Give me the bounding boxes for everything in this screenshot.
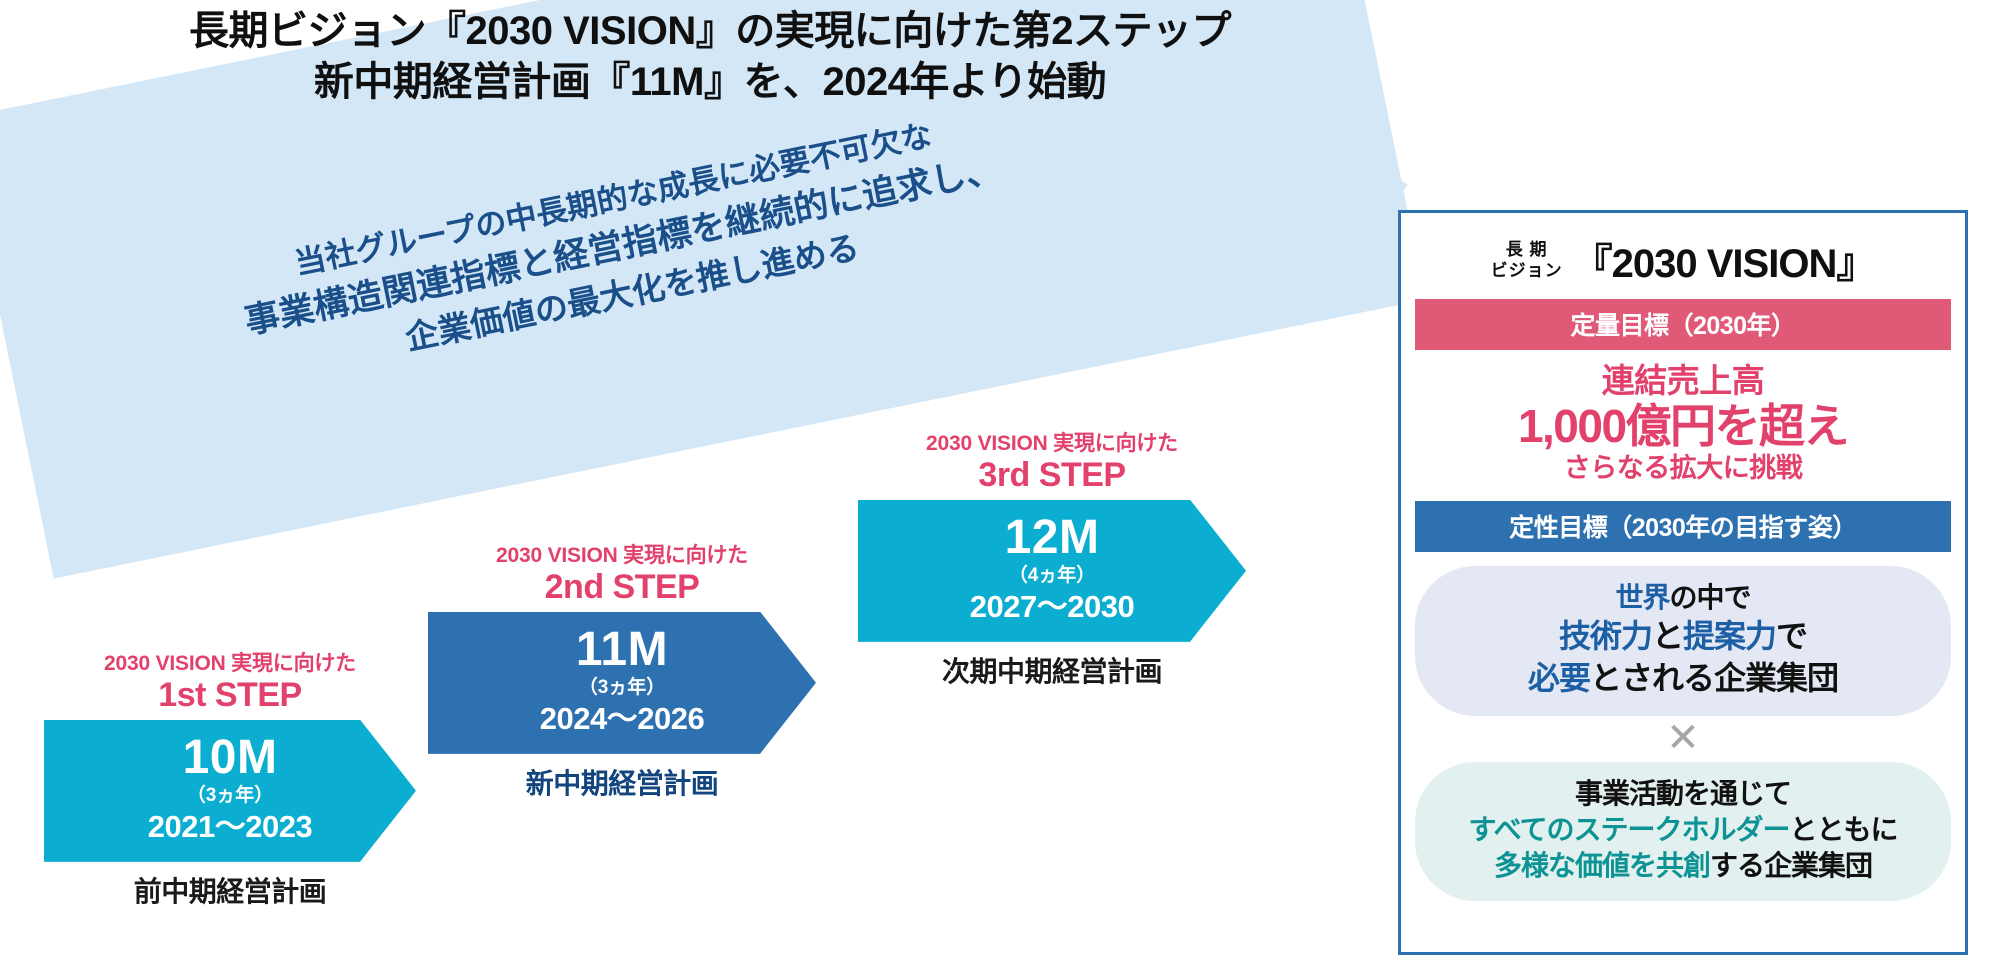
vision-header-label: 長 期 ビジョン bbox=[1491, 239, 1563, 281]
quantitative-goal-body: 連結売上高 1,000億円を超え さらなる拡大に挑戦 bbox=[1415, 350, 1951, 497]
vision-header-label-line2: ビジョン bbox=[1491, 260, 1563, 281]
step-duration-12m: （4ヵ年） bbox=[858, 564, 1246, 589]
step-footer-10m: 前中期経営計画 bbox=[44, 870, 416, 910]
step-caption-big-12m: 3rd STEP bbox=[858, 456, 1246, 494]
cross-multiply-icon: ✕ bbox=[1415, 716, 1951, 758]
pill2-line-3: 多様な価値を共創する企業集団 bbox=[1425, 848, 1941, 884]
pill2-line2-highlight: すべてのステークホルダー bbox=[1469, 814, 1790, 845]
pill2-line-1: 事業活動を通じて bbox=[1425, 776, 1941, 812]
step-card-11m[interactable]: 2030 VISION 実現に向けた 2nd STEP 11M （3ヵ年） 20… bbox=[428, 544, 816, 802]
step-duration-11m: （3ヵ年） bbox=[428, 676, 816, 701]
step-card-12m[interactable]: 2030 VISION 実現に向けた 3rd STEP 12M （4ヵ年） 20… bbox=[858, 432, 1246, 690]
pill1-line-1: 世界の中で bbox=[1425, 580, 1941, 616]
step-range-10m: 2021〜2023 bbox=[44, 809, 416, 846]
title-line-1: 長期ビジョン『2030 VISION』の実現に向けた第2ステップ bbox=[0, 6, 1420, 57]
step-duration-10m: （3ヵ年） bbox=[44, 784, 416, 809]
step-footer-12m: 次期中期経営計画 bbox=[858, 650, 1246, 690]
step-name-11m: 11M bbox=[428, 626, 816, 675]
step-caption-big-11m: 2nd STEP bbox=[428, 568, 816, 606]
pill1-line2-tail: で bbox=[1776, 618, 1807, 654]
pill2-line-2: すべてのステークホルダーとともに bbox=[1425, 812, 1941, 848]
qualitative-pill-technology: 世界の中で 技術力と提案力で 必要とされる企業集団 bbox=[1415, 566, 1951, 716]
step-caption-small-12m: 2030 VISION 実現に向けた bbox=[858, 432, 1246, 456]
qualitative-pill-stakeholder: 事業活動を通じて すべてのステークホルダーとともに 多様な価値を共創する企業集団 bbox=[1415, 762, 1951, 901]
vision-panel: 長 期 ビジョン 『2030 VISION』 定量目標（2030年） 連結売上高… bbox=[1398, 210, 1968, 955]
pill1-line2-highlight-a: 技術力 bbox=[1559, 618, 1652, 654]
step-caption-big-10m: 1st STEP bbox=[44, 676, 416, 714]
step-range-11m: 2024〜2026 bbox=[428, 701, 816, 738]
step-chevron-10m[interactable]: 10M （3ヵ年） 2021〜2023 bbox=[44, 720, 416, 862]
step-caption-11m: 2030 VISION 実現に向けた 2nd STEP bbox=[428, 544, 816, 606]
pill1-line2-highlight-b: 提案力 bbox=[1683, 618, 1776, 654]
quantitative-goal-band: 定量目標（2030年） bbox=[1415, 299, 1951, 350]
step-chevron-11m[interactable]: 11M （3ヵ年） 2024〜2026 bbox=[428, 612, 816, 754]
vision-panel-header: 長 期 ビジョン 『2030 VISION』 bbox=[1415, 223, 1951, 299]
pill1-line1-highlight: 世界 bbox=[1615, 582, 1669, 613]
pill1-line1-rest: の中で bbox=[1670, 582, 1751, 613]
pill1-line3-rest: とされる企業集団 bbox=[1590, 660, 1838, 696]
step-range-12m: 2027〜2030 bbox=[858, 589, 1246, 626]
pill2-line2-rest: とともに bbox=[1789, 814, 1897, 845]
quantitative-line-1: 連結売上高 bbox=[1415, 362, 1951, 401]
pill1-line-3: 必要とされる企業集団 bbox=[1425, 658, 1941, 700]
title-line-2: 新中期経営計画『11M』を、2024年より始動 bbox=[0, 57, 1420, 108]
step-card-10m[interactable]: 2030 VISION 実現に向けた 1st STEP 10M （3ヵ年） 20… bbox=[44, 652, 416, 910]
vision-header-title: 『2030 VISION』 bbox=[1573, 231, 1876, 289]
pill1-line2-mid: と bbox=[1652, 618, 1683, 654]
step-caption-10m: 2030 VISION 実現に向けた 1st STEP bbox=[44, 652, 416, 714]
step-footer-11m: 新中期経営計画 bbox=[428, 762, 816, 802]
step-chevron-12m[interactable]: 12M （4ヵ年） 2027〜2030 bbox=[858, 500, 1246, 642]
step-caption-small-10m: 2030 VISION 実現に向けた bbox=[44, 652, 416, 676]
pill2-line3-rest: する企業集団 bbox=[1710, 850, 1872, 881]
vision-header-label-line1: 長 期 bbox=[1491, 239, 1563, 260]
quantitative-line-2: 1,000億円を超え bbox=[1415, 401, 1951, 452]
pill1-line-2: 技術力と提案力で bbox=[1425, 616, 1941, 658]
slide-root: 長期ビジョン『2030 VISION』の実現に向けた第2ステップ 新中期経営計画… bbox=[0, 0, 2000, 971]
step-name-10m: 10M bbox=[44, 734, 416, 783]
pill1-line3-highlight: 必要 bbox=[1528, 660, 1590, 696]
quantitative-line-3: さらなる拡大に挑戦 bbox=[1415, 452, 1951, 484]
step-name-12m: 12M bbox=[858, 514, 1246, 563]
pill2-line3-highlight: 多様な価値を共創 bbox=[1494, 850, 1710, 881]
step-caption-12m: 2030 VISION 実現に向けた 3rd STEP bbox=[858, 432, 1246, 494]
step-caption-small-11m: 2030 VISION 実現に向けた bbox=[428, 544, 816, 568]
qualitative-goal-band: 定性目標（2030年の目指す姿） bbox=[1415, 501, 1951, 552]
slide-title: 長期ビジョン『2030 VISION』の実現に向けた第2ステップ 新中期経営計画… bbox=[0, 6, 1420, 108]
